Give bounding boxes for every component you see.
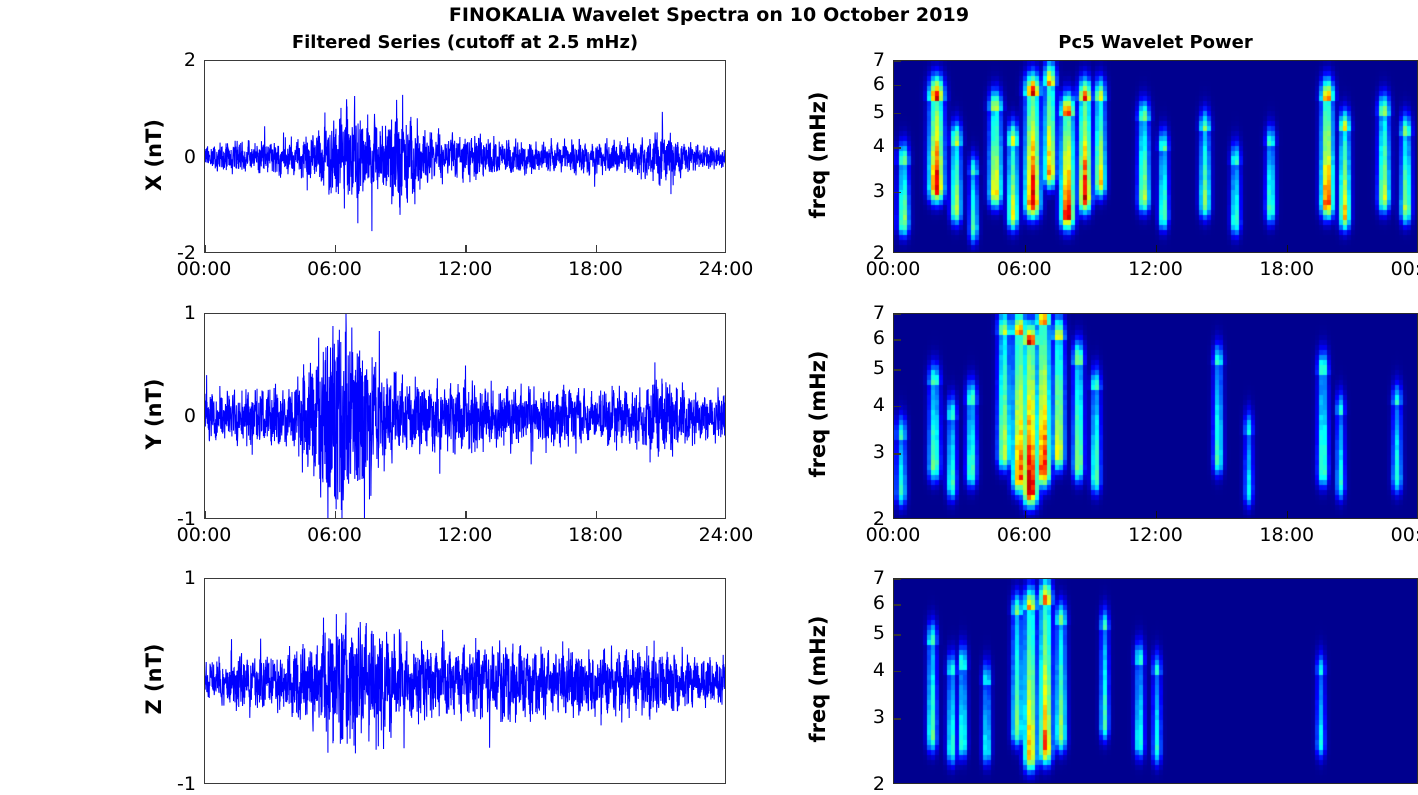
x-tickmark	[1025, 511, 1026, 518]
y-tickmark	[894, 604, 901, 605]
xtick-label: 06:00	[307, 258, 362, 280]
ylabel-y-filtered-series: Y (nT)	[142, 314, 166, 514]
series-trace-z-filtered-series	[205, 579, 726, 784]
ylabel-z-wavelet-power: freq (mHz)	[806, 564, 830, 794]
xtick-label: 00:00	[177, 258, 232, 280]
xtick-label: 12:00	[438, 258, 493, 280]
ylabel-y-wavelet-power: freq (mHz)	[806, 299, 830, 529]
x-tickmark	[1287, 245, 1288, 252]
series-trace-x-filtered-series	[205, 61, 726, 253]
x-tickmark	[204, 511, 205, 518]
page-title: FINOKALIA Wavelet Spectra on 10 October …	[0, 4, 1418, 26]
panel-x-wavelet-power	[893, 60, 1418, 253]
y-tickmark	[894, 671, 901, 672]
xtick-label: 12:00	[1128, 258, 1183, 280]
x-tickmark	[596, 245, 597, 252]
ytick-label: 3	[847, 180, 885, 202]
axes-x-wavelet-power	[893, 60, 1418, 253]
xtick-label: 18:00	[1259, 524, 1314, 546]
xtick-label: 24:00	[699, 524, 754, 546]
panel-x-filtered-series	[204, 60, 726, 253]
panel-y-wavelet-power	[893, 313, 1418, 519]
ylabel-z-filtered-series: Z (nT)	[142, 579, 166, 779]
x-tickmark	[1156, 245, 1157, 252]
y-tickmark	[894, 406, 901, 407]
wavelet-power-map-z-wavelet-power	[894, 579, 1418, 784]
series-trace-y-filtered-series	[205, 314, 726, 519]
xtick-label: 18:00	[1259, 258, 1314, 280]
wavelet-spectra-figure: FINOKALIA Wavelet Spectra on 10 October …	[0, 0, 1418, 788]
ytick-label: 5	[847, 622, 885, 644]
axes-y-filtered-series	[204, 313, 726, 519]
ytick-label: 6	[847, 592, 885, 614]
ylabel-x-filtered-series: X (nT)	[142, 55, 166, 255]
axes-z-filtered-series	[204, 578, 726, 784]
y-tickmark	[894, 314, 901, 315]
xtick-label: 12:00	[1128, 524, 1183, 546]
xtick-label: 00:00	[177, 524, 232, 546]
xtick-label: 00:00	[1391, 524, 1418, 546]
ytick-label: 7	[847, 49, 885, 71]
y-tickmark	[894, 85, 901, 86]
ytick-label: 2	[847, 773, 885, 795]
ytick-label: 6	[847, 73, 885, 95]
y-tickmark	[894, 61, 901, 62]
y-tickmark	[894, 113, 901, 114]
x-tickmark	[465, 511, 466, 518]
xtick-label: 18:00	[568, 524, 623, 546]
x-tickmark	[465, 245, 466, 252]
panel-y-filtered-series	[204, 313, 726, 519]
y-tickmark	[894, 718, 901, 719]
xtick-label: 00:00	[1391, 258, 1418, 280]
axes-z-wavelet-power	[893, 578, 1418, 784]
y-tickmark	[894, 339, 901, 340]
wavelet-power-map-y-wavelet-power	[894, 314, 1418, 519]
ytick-label: 4	[847, 135, 885, 157]
ytick-label: 3	[847, 441, 885, 463]
x-tickmark	[335, 511, 336, 518]
panel-z-wavelet-power	[893, 578, 1418, 784]
axes-x-filtered-series	[204, 60, 726, 253]
xtick-label: 12:00	[438, 524, 493, 546]
xtick-label: 06:00	[307, 524, 362, 546]
left-column-title: Filtered Series (cutoff at 2.5 mHz)	[204, 32, 726, 53]
ytick-label: 4	[847, 394, 885, 416]
panel-z-filtered-series	[204, 578, 726, 784]
axes-y-wavelet-power	[893, 313, 1418, 519]
xtick-label: 06:00	[997, 524, 1052, 546]
xtick-label: 24:00	[699, 258, 754, 280]
right-column-title: Pc5 Wavelet Power	[893, 32, 1418, 53]
x-tickmark	[1025, 245, 1026, 252]
y-tickmark	[894, 579, 901, 580]
xtick-label: 00:00	[866, 258, 921, 280]
ytick-label: 4	[847, 659, 885, 681]
ytick-label: 7	[847, 567, 885, 589]
ytick-label: 7	[847, 302, 885, 324]
xtick-label: 18:00	[568, 258, 623, 280]
ytick-label: 3	[847, 706, 885, 728]
xtick-label: 00:00	[866, 524, 921, 546]
x-tickmark	[1156, 511, 1157, 518]
ylabel-x-wavelet-power: freq (mHz)	[806, 40, 830, 270]
y-tickmark	[894, 369, 901, 370]
ytick-label: 5	[847, 357, 885, 379]
xtick-label: 06:00	[997, 258, 1052, 280]
ytick-label: 6	[847, 327, 885, 349]
y-tickmark	[894, 192, 901, 193]
x-tickmark	[204, 245, 205, 252]
y-tickmark	[894, 147, 901, 148]
y-tickmark	[894, 634, 901, 635]
x-tickmark	[335, 245, 336, 252]
x-tickmark	[596, 511, 597, 518]
ytick-label: 5	[847, 101, 885, 123]
wavelet-power-map-x-wavelet-power	[894, 61, 1418, 253]
y-tickmark	[894, 453, 901, 454]
x-tickmark	[1287, 511, 1288, 518]
